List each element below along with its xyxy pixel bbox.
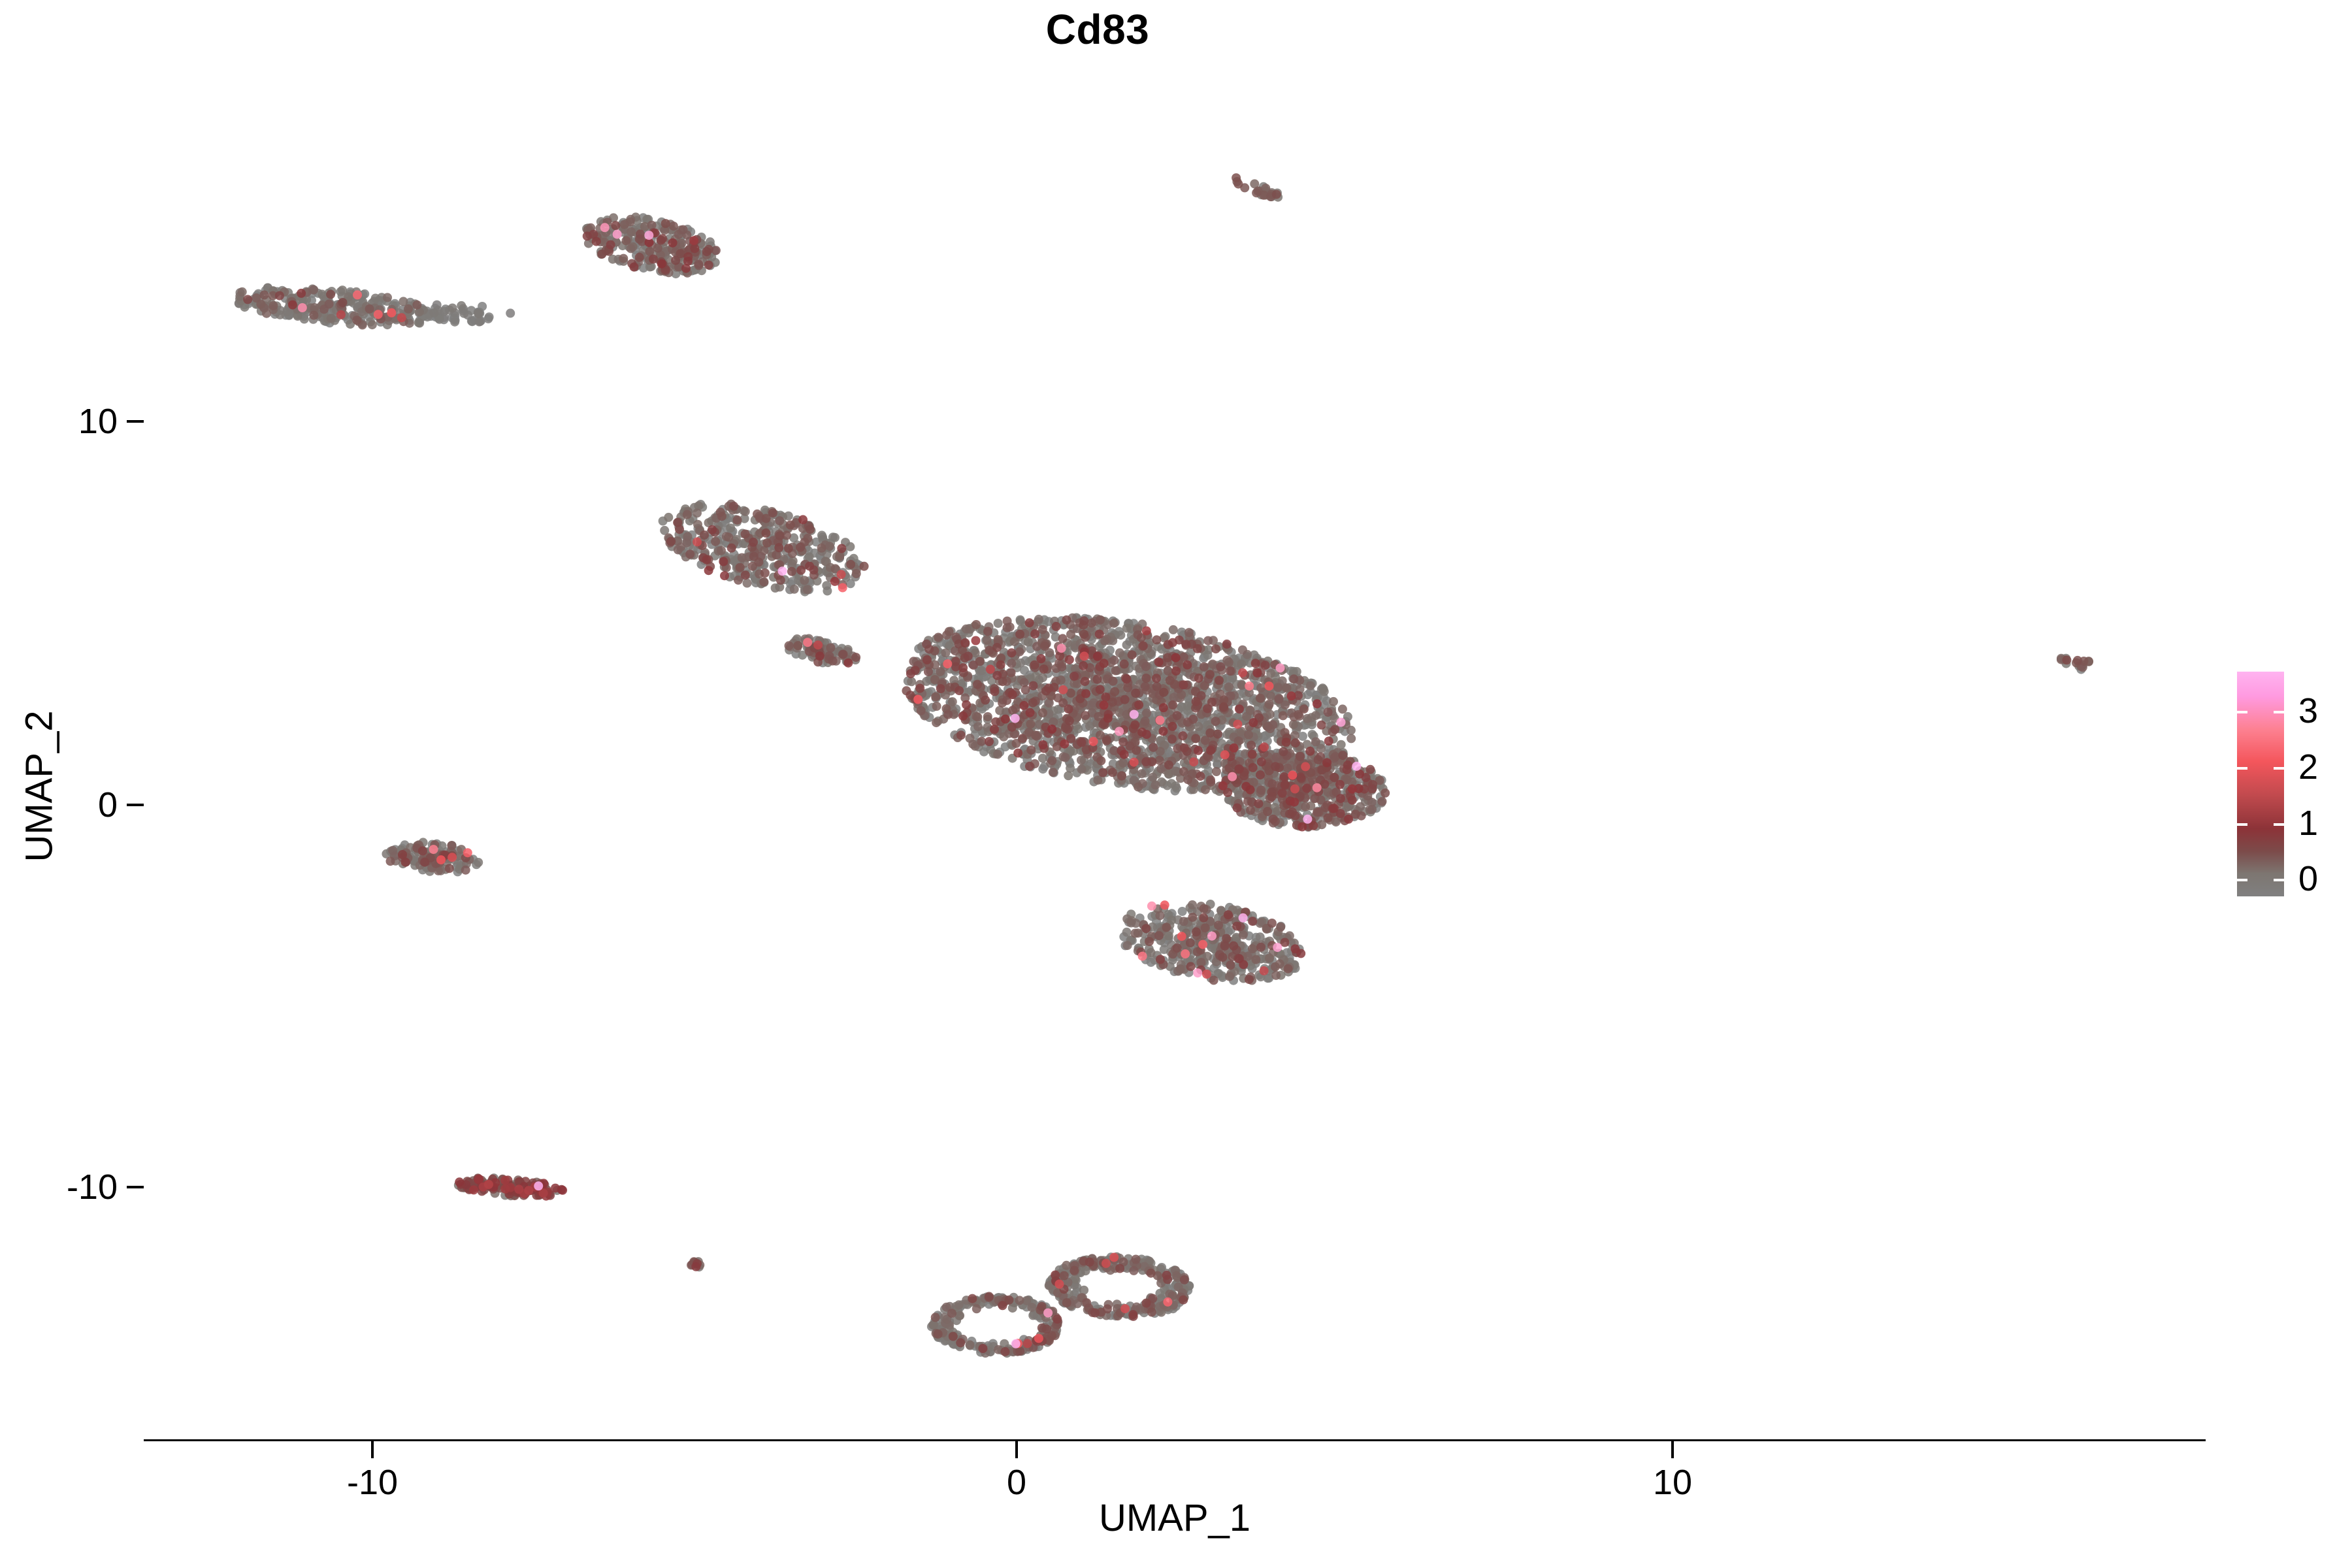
y-tick-mark (127, 420, 144, 423)
legend-tick-mark (2237, 823, 2247, 826)
scatter-points-layer (144, 91, 2206, 1439)
y-tick-label: 0 (98, 785, 118, 825)
x-axis-label: UMAP_1 (144, 1496, 2206, 1540)
legend-label: 2 (2298, 747, 2318, 787)
y-tick-mark (127, 804, 144, 806)
legend-tick-mark (2274, 711, 2284, 713)
legend-label: 1 (2298, 803, 2318, 843)
y-tick-label: -10 (67, 1167, 118, 1207)
plot-panel (144, 91, 2206, 1439)
x-tick-mark (371, 1441, 374, 1458)
color-legend: 3210 (2237, 672, 2335, 907)
legend-tick-mark (2237, 711, 2247, 713)
legend-tick-mark (2274, 767, 2284, 770)
legend-tick-mark (2274, 879, 2284, 881)
legend-label: 3 (2298, 691, 2318, 731)
legend-tick-mark (2237, 879, 2247, 881)
feature-plot: Cd83 -10010 100-10 UMAP_1 UMAP_2 3210 (0, 0, 2352, 1568)
legend-label: 0 (2298, 858, 2318, 899)
x-tick-mark (1015, 1441, 1018, 1458)
legend-colorbar (2237, 672, 2284, 896)
scatter-svg (144, 91, 2206, 1439)
y-axis-label: UMAP_2 (18, 604, 61, 970)
legend-tick-mark (2274, 823, 2284, 826)
legend-tick-mark (2237, 767, 2247, 770)
y-tick-label: 10 (78, 401, 118, 442)
x-tick-mark (1671, 1441, 1674, 1458)
y-tick-mark (127, 1186, 144, 1188)
page-title: Cd83 (0, 5, 2274, 54)
